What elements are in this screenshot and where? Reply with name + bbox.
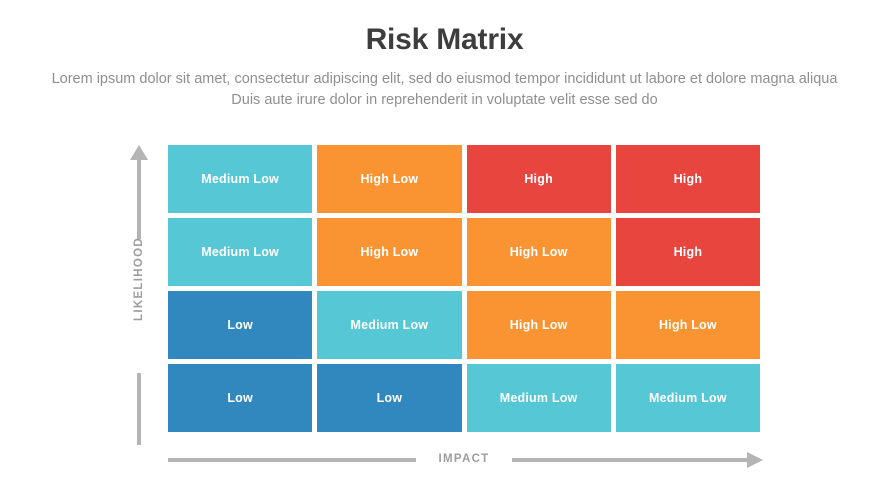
arrow-right-icon (747, 452, 763, 468)
risk-cell[interactable]: High Low (317, 145, 461, 213)
risk-cell-label: High Low (360, 245, 418, 259)
risk-cell-label: High Low (510, 318, 568, 332)
likelihood-axis-line-bottom (137, 373, 141, 445)
risk-cell[interactable]: High (467, 145, 611, 213)
risk-cell-label: Medium Low (201, 245, 279, 259)
risk-cell-label: Medium Low (351, 318, 429, 332)
risk-cell-label: High (674, 172, 703, 186)
risk-cell-label: Medium Low (201, 172, 279, 186)
risk-cell[interactable]: High (616, 145, 760, 213)
risk-cell-label: High Low (360, 172, 418, 186)
page-subtitle: Lorem ipsum dolor sit amet, consectetur … (39, 69, 851, 111)
risk-cell-label: Low (377, 391, 403, 405)
risk-cell[interactable]: High (616, 218, 760, 286)
risk-matrix-grid: Medium LowHigh LowHighHighMedium LowHigh… (168, 145, 760, 432)
risk-cell[interactable]: Medium Low (467, 364, 611, 432)
risk-cell-label: High (674, 245, 703, 259)
likelihood-axis-label: LIKELIHOOD (133, 209, 145, 349)
risk-cell-label: Medium Low (649, 391, 727, 405)
risk-cell-label: High Low (659, 318, 717, 332)
risk-cell[interactable]: Low (317, 364, 461, 432)
risk-matrix-grid-wrapper: Medium LowHigh LowHighHighMedium LowHigh… (168, 145, 760, 432)
impact-axis-line-left (168, 458, 416, 462)
risk-cell[interactable]: Medium Low (168, 218, 312, 286)
impact-axis: IMPACT (168, 449, 764, 471)
risk-cell[interactable]: Medium Low (616, 364, 760, 432)
risk-cell-label: High Low (510, 245, 568, 259)
risk-cell[interactable]: High Low (616, 291, 760, 359)
risk-cell[interactable]: Medium Low (168, 145, 312, 213)
impact-axis-line-right (512, 458, 748, 462)
risk-cell[interactable]: Medium Low (317, 291, 461, 359)
risk-cell-label: Low (227, 318, 253, 332)
risk-cell[interactable]: High Low (467, 291, 611, 359)
risk-cell[interactable]: High Low (317, 218, 461, 286)
risk-cell-label: High (524, 172, 553, 186)
page-title: Risk Matrix (0, 22, 889, 58)
risk-cell-label: Medium Low (500, 391, 578, 405)
arrow-up-icon (130, 145, 148, 160)
header: Risk Matrix Lorem ipsum dolor sit amet, … (0, 22, 889, 111)
likelihood-axis: LIKELIHOOD (126, 145, 152, 445)
risk-matrix-infographic: Risk Matrix Lorem ipsum dolor sit amet, … (0, 0, 889, 500)
risk-cell[interactable]: High Low (467, 218, 611, 286)
risk-cell[interactable]: Low (168, 291, 312, 359)
risk-cell-label: Low (227, 391, 253, 405)
impact-axis-label: IMPACT (416, 453, 512, 465)
risk-cell[interactable]: Low (168, 364, 312, 432)
